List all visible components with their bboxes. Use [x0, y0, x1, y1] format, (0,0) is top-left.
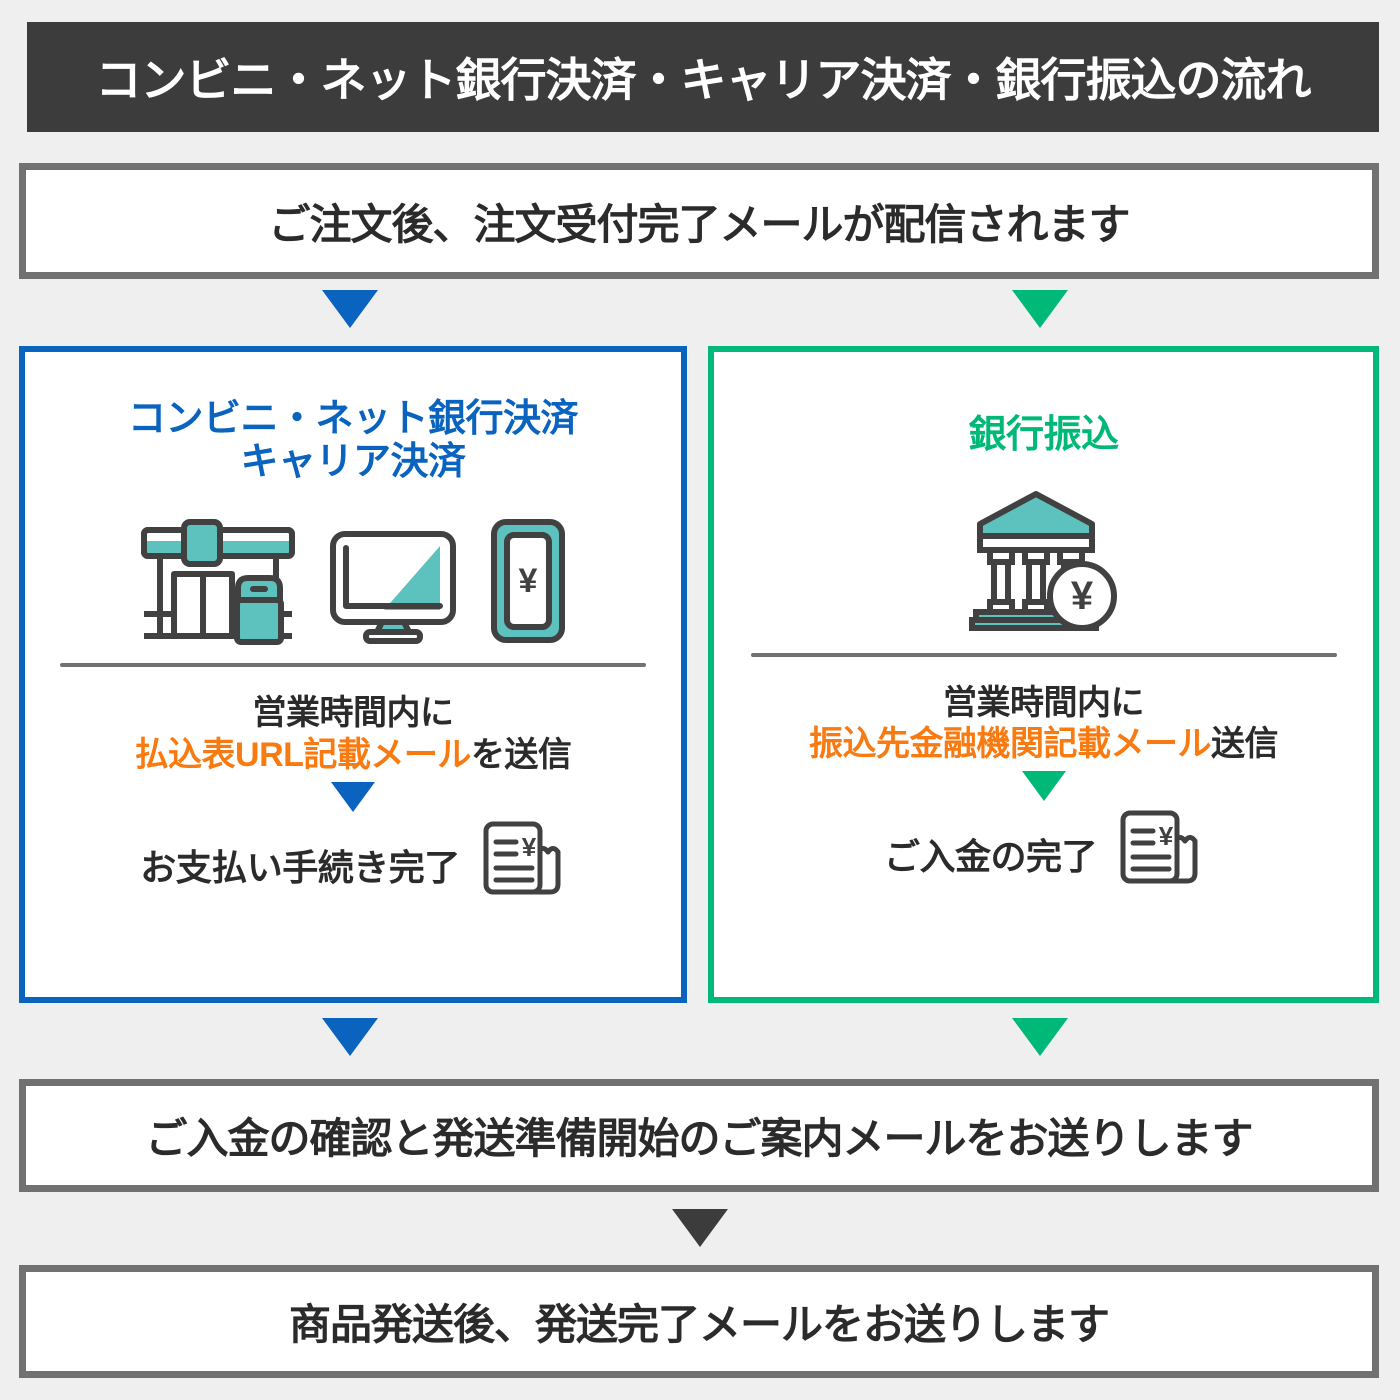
arrow-down-dark-to-shipped [672, 1209, 728, 1247]
step-shipped-text: 商品発送後、発送完了メールをお送りします [289, 1291, 1109, 1352]
panel-convenience-final-text: お支払い手続き完了 [140, 839, 460, 891]
panel-bank-note: 営業時間内に 振込先金融機関記載メール送信 [714, 683, 1373, 766]
arrow-down-blue-inner [331, 782, 375, 812]
panel-convenience-icon-row: ¥ [25, 501, 681, 651]
arrow-down-green-to-confirm [1012, 1018, 1068, 1056]
panel-bank-note-line2: 振込先金融機関記載メール送信 [714, 724, 1373, 765]
step-payment-confirm-text: ご入金の確認と発送準備開始のご案内メールをお送りします [145, 1105, 1252, 1166]
smartphone-yen-icon: ¥ [488, 516, 568, 651]
step-shipped-box: 商品発送後、発送完了メールをお送りします [19, 1265, 1379, 1378]
step-order-email-box: ご注文後、注文受付完了メールが配信されます [19, 163, 1379, 279]
desktop-monitor-icon [328, 526, 458, 651]
panel-bank-note-suffix: 送信 [1211, 725, 1278, 763]
panel-convenience-note: 営業時間内に 払込表URL記載メールを送信 [25, 693, 681, 776]
panel-convenience-final-row: お支払い手続き完了 ¥ [25, 816, 681, 913]
panel-bank-icon-row: ¥ [714, 491, 1373, 641]
panel-convenience-note-line2: 払込表URL記載メールを送信 [25, 735, 681, 776]
panel-bank-note-highlight: 振込先金融機関記載メール [809, 725, 1211, 763]
panel-bank-title: 銀行振込 [714, 414, 1373, 457]
bank-building-yen-icon: ¥ [964, 486, 1124, 641]
svg-text:¥: ¥ [519, 562, 538, 600]
diagram-title-bar: コンビニ・ネット銀行決済・キャリア決済・銀行振込の流れ [27, 22, 1379, 132]
svg-text:¥: ¥ [1070, 574, 1093, 618]
panel-bank-note-line1: 営業時間内に [714, 683, 1373, 724]
invoice-yen-icon: ¥ [1111, 805, 1203, 902]
panel-bank-final-row: ご入金の完了 ¥ [714, 805, 1373, 902]
panel-bank-final-text: ご入金の完了 [884, 828, 1097, 880]
flow-diagram: コンビニ・ネット銀行決済・キャリア決済・銀行振込の流れ ご注文後、注文受付完了メ… [0, 0, 1400, 1400]
invoice-yen-icon: ¥ [474, 816, 566, 913]
panel-convenience-note-line1: 営業時間内に [25, 693, 681, 734]
svg-text:¥: ¥ [522, 832, 537, 862]
panel-convenience-note-highlight: 払込表URL記載メール [135, 736, 471, 774]
step-payment-confirm-box: ご入金の確認と発送準備開始のご案内メールをお送りします [19, 1079, 1379, 1192]
panel-convenience-title: コンビニ・ネット銀行決済 キャリア決済 [25, 398, 681, 483]
svg-text:¥: ¥ [1159, 821, 1174, 851]
panel-convenience-divider [60, 663, 646, 667]
panel-bank-divider [751, 653, 1337, 657]
arrow-down-green-to-bank [1012, 290, 1068, 328]
panel-bank-transfer: 銀行振込 [708, 346, 1379, 1003]
arrow-down-blue-to-confirm [322, 1018, 378, 1056]
convenience-store-icon [138, 516, 298, 651]
panel-convenience-payment: コンビニ・ネット銀行決済 キャリア決済 [19, 346, 687, 1003]
step-order-email-text: ご注文後、注文受付完了メールが配信されます [268, 191, 1129, 252]
panel-convenience-note-suffix: を送信 [471, 736, 572, 774]
arrow-down-green-inner [1022, 771, 1066, 801]
arrow-down-blue-to-conveni [322, 290, 378, 328]
diagram-title: コンビニ・ネット銀行決済・キャリア決済・銀行振込の流れ [96, 44, 1311, 110]
